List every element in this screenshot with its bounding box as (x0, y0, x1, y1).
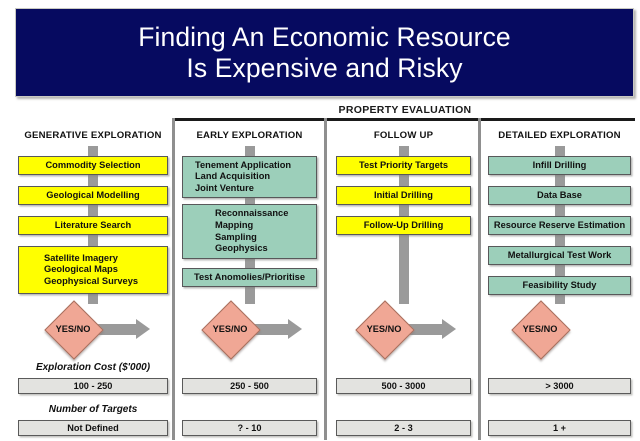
process-node[interactable]: Commodity Selection (18, 156, 168, 175)
slide-canvas: Finding An Economic Resource Is Expensiv… (0, 0, 640, 441)
cost-cell-0: 100 - 250 (18, 378, 168, 394)
process-node[interactable]: Data Base (488, 186, 631, 205)
node-label: Test Priority Targets (359, 160, 448, 172)
process-node[interactable]: Feasibility Study (488, 276, 631, 295)
process-node[interactable]: Initial Drilling (336, 186, 471, 205)
targets-cell-2: 2 - 3 (336, 420, 471, 436)
process-node[interactable]: Resource Reserve Estimation (488, 216, 631, 235)
cost-cell-3: > 3000 (488, 378, 631, 394)
property-evaluation-label: PROPERTY EVALUATION (175, 104, 635, 116)
targets-value: 1 + (553, 423, 566, 433)
node-label: Metallurgical Test Work (508, 250, 612, 262)
node-label: Satellite Imagery Geological Maps Geophy… (26, 253, 138, 288)
title-line-2: Is Expensive and Risky (186, 53, 462, 84)
cost-cell-1: 250 - 500 (182, 378, 317, 394)
process-node[interactable]: Satellite Imagery Geological Maps Geophy… (18, 246, 168, 294)
column-detailed-exploration: DETAILED EXPLORATION Infill Drilling Dat… (488, 130, 631, 306)
property-evaluation-rule (175, 118, 635, 121)
cost-value: 500 - 3000 (382, 381, 426, 391)
node-label: Initial Drilling (374, 190, 433, 202)
column-divider-2 (324, 118, 327, 440)
node-label: Resource Reserve Estimation (494, 220, 625, 232)
process-node[interactable]: Reconnaissance Mapping Sampling Geophysi… (182, 204, 317, 259)
node-label: Test Anomolies/Prioritise (194, 272, 305, 284)
node-label: Tenement Application Land Acquisition Jo… (190, 160, 291, 195)
decision-label: YES/NO (353, 323, 415, 335)
cost-cell-2: 500 - 3000 (336, 378, 471, 394)
decision-arrow-head (136, 319, 150, 339)
node-label: Commodity Selection (45, 160, 140, 172)
flow-column-2: Test Priority Targets Initial Drilling F… (336, 146, 471, 306)
node-label: Literature Search (55, 220, 131, 232)
column-divider-3 (478, 118, 481, 440)
title-banner: Finding An Economic Resource Is Expensiv… (15, 8, 634, 97)
decision-gate-3[interactable]: YES/NO (488, 305, 631, 353)
decision-label: YES/NO (42, 323, 104, 335)
decision-label: YES/NO (509, 323, 571, 335)
process-node[interactable]: Geological Modelling (18, 186, 168, 205)
decision-label: YES/NO (199, 323, 261, 335)
decision-arrow-head (288, 319, 302, 339)
column-header-0: GENERATIVE EXPLORATION (18, 130, 168, 141)
process-node[interactable]: Tenement Application Land Acquisition Jo… (182, 156, 317, 198)
column-early-exploration: EARLY EXPLORATION Tenement Application L… (182, 130, 317, 306)
decision-arrow-head (442, 319, 456, 339)
cost-value: > 3000 (545, 381, 573, 391)
column-header-3: DETAILED EXPLORATION (488, 130, 631, 141)
node-label: Reconnaissance Mapping Sampling Geophysi… (190, 208, 288, 254)
decision-gate-0[interactable]: YES/NO (18, 305, 168, 353)
targets-cell-1: ? - 10 (182, 420, 317, 436)
flow-column-0: Commodity Selection Geological Modelling… (18, 146, 168, 306)
cost-value: 100 - 250 (74, 381, 113, 391)
process-node[interactable]: Test Anomolies/Prioritise (182, 268, 317, 287)
column-divider-1 (172, 118, 175, 440)
cost-value: 250 - 500 (230, 381, 269, 391)
flow-column-3: Infill Drilling Data Base Resource Reser… (488, 146, 631, 306)
process-node[interactable]: Follow-Up Drilling (336, 216, 471, 235)
targets-value: ? - 10 (238, 423, 262, 433)
node-label: Feasibility Study (523, 280, 597, 292)
targets-cell-3: 1 + (488, 420, 631, 436)
node-label: Infill Drilling (533, 160, 587, 172)
process-node[interactable]: Test Priority Targets (336, 156, 471, 175)
targets-value: Not Defined (67, 423, 119, 433)
column-generative-exploration: GENERATIVE EXPLORATION Commodity Selecti… (18, 130, 168, 306)
process-node[interactable]: Infill Drilling (488, 156, 631, 175)
process-node[interactable]: Literature Search (18, 216, 168, 235)
number-of-targets-row-label: Number of Targets (18, 404, 168, 415)
title-line-1: Finding An Economic Resource (138, 22, 511, 53)
column-header-2: FOLLOW UP (336, 130, 471, 141)
property-evaluation-header: PROPERTY EVALUATION (175, 104, 635, 121)
column-header-1: EARLY EXPLORATION (182, 130, 317, 141)
column-follow-up: FOLLOW UP Test Priority Targets Initial … (336, 130, 471, 306)
exploration-cost-row-label: Exploration Cost ($'000) (18, 362, 168, 373)
targets-cell-0: Not Defined (18, 420, 168, 436)
targets-value: 2 - 3 (394, 423, 412, 433)
decision-gate-1[interactable]: YES/NO (182, 305, 317, 353)
node-label: Data Base (537, 190, 582, 202)
node-label: Geological Modelling (46, 190, 140, 202)
process-node[interactable]: Metallurgical Test Work (488, 246, 631, 265)
flow-column-1: Tenement Application Land Acquisition Jo… (182, 146, 317, 306)
decision-gate-2[interactable]: YES/NO (336, 305, 471, 353)
node-label: Follow-Up Drilling (364, 220, 444, 232)
